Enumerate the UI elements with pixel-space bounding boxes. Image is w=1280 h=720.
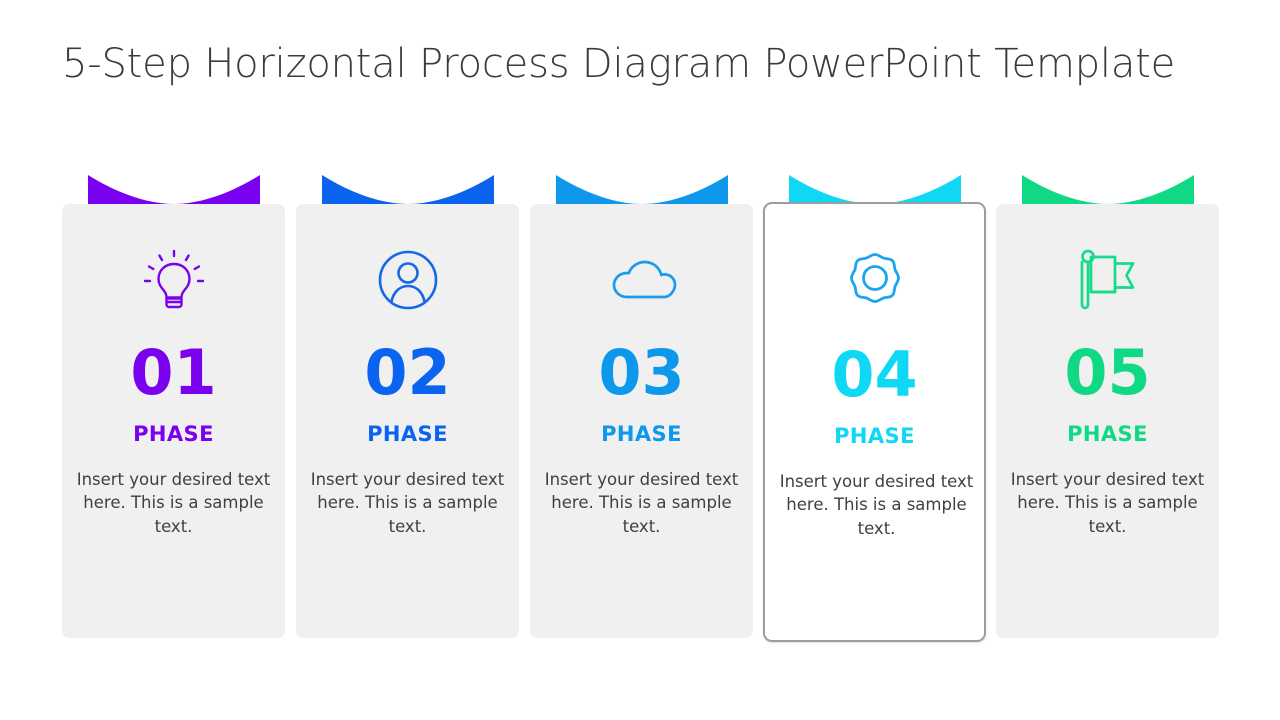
step-banner-02 [322, 168, 494, 206]
step-number-03: 03 [530, 342, 753, 404]
step-body-text-04: Insert your desired text here. This is a… [779, 470, 974, 540]
step-body-text-01: Insert your desired text here. This is a… [76, 468, 271, 538]
process-step-04[interactable]: 04 PHASE Insert your desired text here. … [763, 168, 986, 644]
step-number-05: 05 [996, 342, 1219, 404]
step-banner-03 [556, 168, 728, 206]
step-body-text-02: Insert your desired text here. This is a… [310, 468, 505, 538]
step-banner-01 [88, 168, 260, 206]
step-number-02: 02 [296, 342, 519, 404]
step-card-02[interactable]: 02 PHASE Insert your desired text here. … [296, 204, 519, 638]
process-step-02[interactable]: 02 PHASE Insert your desired text here. … [296, 168, 519, 644]
step-card-03[interactable]: 03 PHASE Insert your desired text here. … [530, 204, 753, 638]
step-phase-label-05: PHASE [996, 422, 1219, 446]
step-number-01: 01 [62, 342, 285, 404]
page-title: 5-Step Horizontal Process Diagram PowerP… [62, 42, 1175, 86]
step-phase-label-03: PHASE [530, 422, 753, 446]
flag-icon [996, 242, 1219, 318]
step-card-04[interactable]: 04 PHASE Insert your desired text here. … [763, 202, 986, 642]
gear-icon [765, 244, 984, 320]
process-step-05[interactable]: 05 PHASE Insert your desired text here. … [996, 168, 1219, 644]
step-card-05[interactable]: 05 PHASE Insert your desired text here. … [996, 204, 1219, 638]
step-phase-label-02: PHASE [296, 422, 519, 446]
step-number-04: 04 [765, 344, 984, 406]
step-banner-05 [1022, 168, 1194, 206]
step-body-text-03: Insert your desired text here. This is a… [544, 468, 739, 538]
slide-canvas: 5-Step Horizontal Process Diagram PowerP… [0, 0, 1280, 720]
step-phase-label-01: PHASE [62, 422, 285, 446]
process-step-03[interactable]: 03 PHASE Insert your desired text here. … [530, 168, 753, 644]
step-banner-04 [789, 168, 961, 206]
process-step-01[interactable]: 01 PHASE Insert your desired text here. … [62, 168, 285, 644]
process-steps-row: 01 PHASE Insert your desired text here. … [62, 168, 1219, 644]
step-body-text-05: Insert your desired text here. This is a… [1010, 468, 1205, 538]
user-circle-icon [296, 242, 519, 318]
cloud-icon [530, 242, 753, 318]
step-card-01[interactable]: 01 PHASE Insert your desired text here. … [62, 204, 285, 638]
step-phase-label-04: PHASE [765, 424, 984, 448]
lightbulb-icon [62, 242, 285, 318]
